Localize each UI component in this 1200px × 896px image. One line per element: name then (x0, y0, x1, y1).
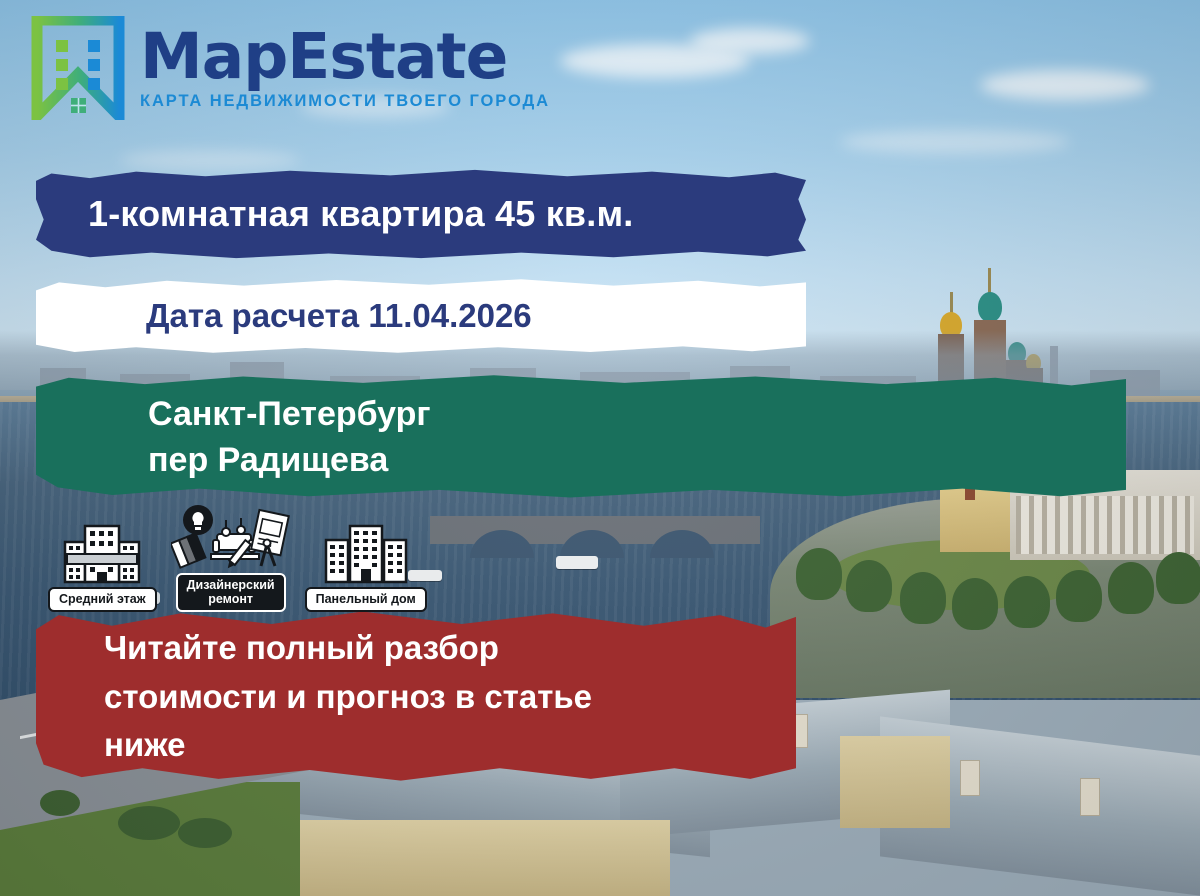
badge-panel-house[interactable]: Панельный дом (305, 522, 427, 611)
cta-banner[interactable]: Читайте полный разбор стоимости и прогно… (36, 608, 796, 786)
designer-renovation-icon (171, 508, 291, 570)
location-banner: Санкт-Петербург пер Радищева (36, 374, 1126, 500)
calculation-date-banner: Дата расчета 11.04.2026 (36, 276, 806, 356)
brand-logo[interactable]: MapEstate КАРТА НЕДВИЖИМОСТИ ТВОЕГО ГОРО… (30, 16, 550, 120)
brand-name: MapEstate (140, 27, 550, 87)
badge-label: Дизайнерский ремонт (176, 573, 286, 612)
brand-tagline: КАРТА НЕДВИЖИМОСТИ ТВОЕГО ГОРОДА (140, 92, 550, 111)
calculation-date: Дата расчета 11.04.2026 (36, 297, 532, 335)
badge-designer-renovation[interactable]: Дизайнерский ремонт (171, 508, 291, 612)
property-title: 1-комнатная квартира 45 кв.м. (36, 193, 633, 235)
badge-label: Средний этаж (48, 587, 157, 611)
cta-line-1: Читайте полный разбор (104, 624, 592, 673)
location-city: Санкт-Петербург (148, 391, 431, 437)
location-street: пер Радищева (148, 437, 431, 483)
panel-building-icon (324, 522, 408, 584)
location-text: Санкт-Петербург пер Радищева (36, 391, 431, 483)
cta-text: Читайте полный разбор стоимости и прогно… (36, 624, 592, 770)
cta-line-3: ниже (104, 721, 592, 770)
promo-poster: MapEstate КАРТА НЕДВИЖИМОСТИ ТВОЕГО ГОРО… (0, 0, 1200, 896)
badge-label: Панельный дом (305, 587, 427, 611)
feature-badges: Средний этаж (48, 508, 427, 612)
badge-mid-floor[interactable]: Средний этаж (48, 522, 157, 611)
property-title-banner: 1-комнатная квартира 45 кв.м. (36, 168, 806, 260)
cta-line-2: стоимости и прогноз в статье (104, 673, 592, 722)
mid-floor-building-icon (63, 522, 141, 584)
header: MapEstate КАРТА НЕДВИЖИМОСТИ ТВОЕГО ГОРО… (0, 0, 1200, 132)
bookmark-building-icon (30, 16, 126, 120)
